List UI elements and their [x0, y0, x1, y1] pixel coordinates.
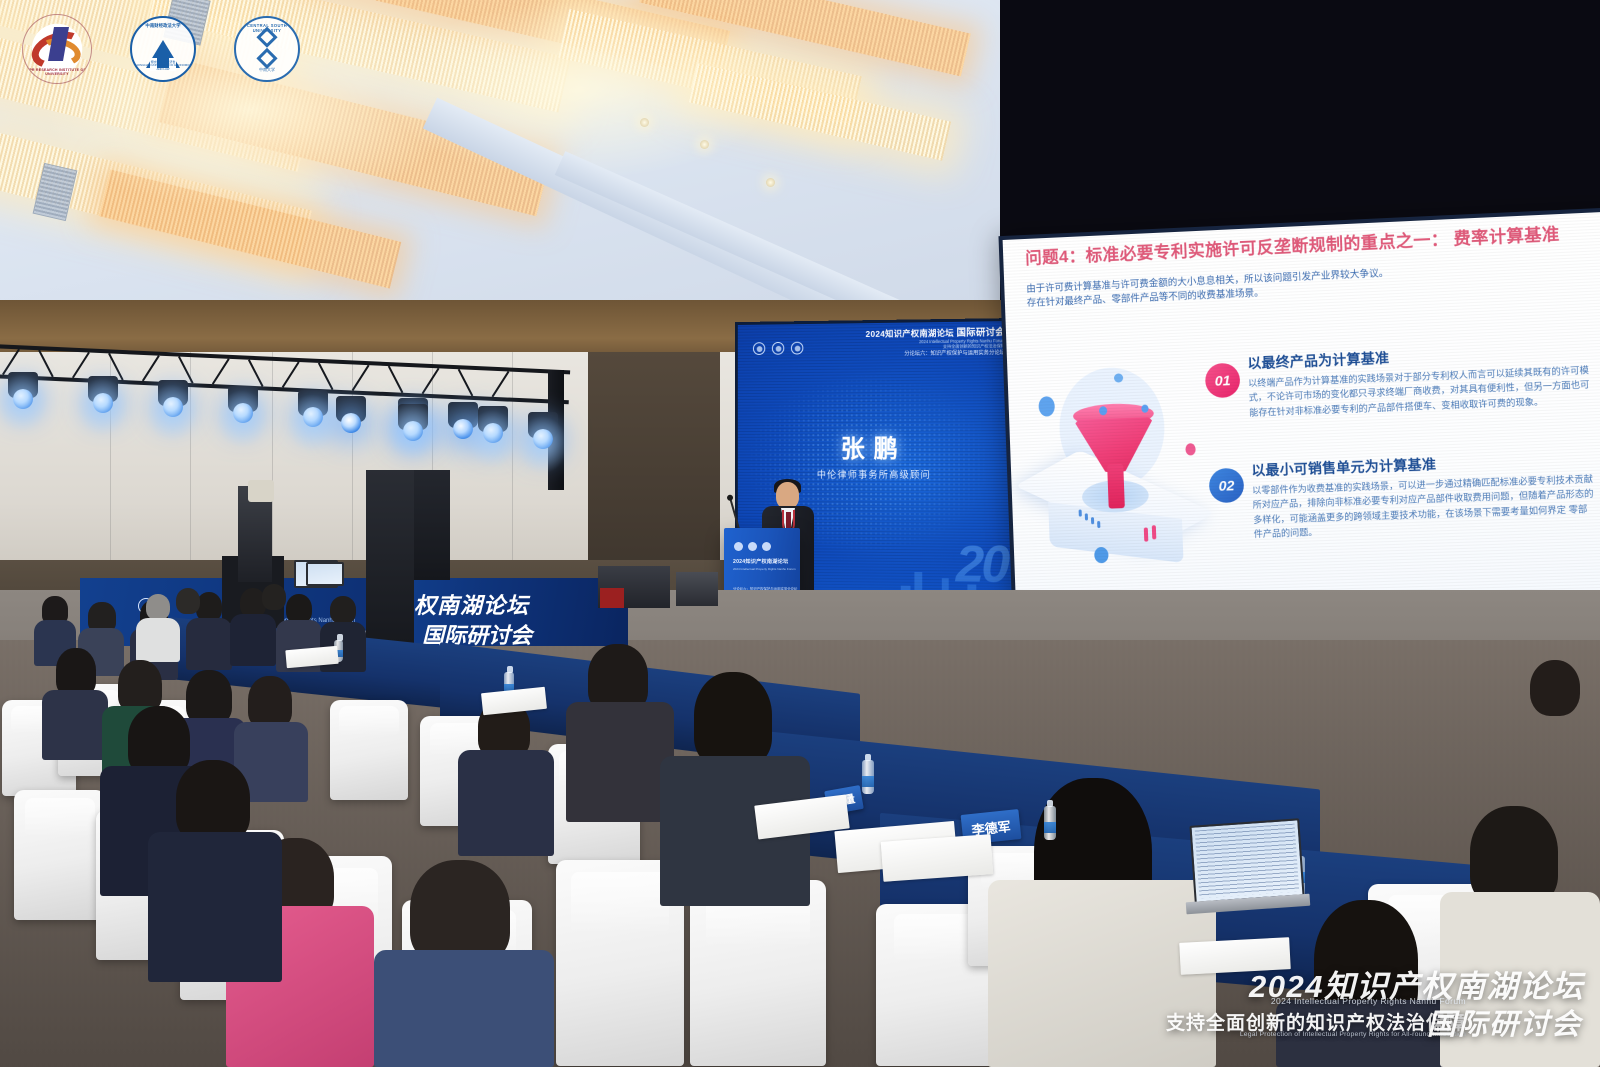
attendee-head	[1470, 806, 1558, 906]
document-papers	[1179, 937, 1291, 975]
stage-spotlight-11	[528, 412, 558, 438]
attendee-body	[230, 614, 276, 666]
attendee-head	[56, 648, 96, 696]
bullet-heading-01: 以最终产品为计算基准	[1247, 346, 1390, 372]
screen-header-title2: 国际研讨会	[957, 327, 1005, 339]
attendee-head	[694, 672, 772, 766]
attendee-head	[330, 596, 356, 624]
speaker-title: 中伦律师事务所高级顾问	[738, 467, 1013, 481]
bullet-number-01: 01	[1205, 363, 1241, 399]
water-bottle	[1044, 806, 1056, 840]
attendee-head	[1530, 660, 1580, 716]
chandelier-7	[99, 169, 402, 288]
zhongnan-logo-en: ZHONGNAN UNIVERSITY OF ECONOMICS AND LAW	[132, 63, 194, 71]
banner-right-title: 权南湖论坛	[414, 588, 529, 620]
podium-logos	[734, 542, 771, 551]
ceiling-downlight-3	[766, 178, 775, 187]
cube-tick-2	[1085, 513, 1088, 520]
screen-header-title: 2024知识产权南湖论坛	[866, 328, 954, 339]
speaker-stack-occluder-2	[366, 470, 414, 652]
bullet-heading-02: 以最小可销售单元为计算基准	[1251, 453, 1437, 480]
camera-light	[248, 480, 274, 502]
document-papers	[881, 834, 994, 882]
bullet-number-02: 02	[1209, 468, 1245, 504]
water-bottle	[862, 760, 874, 794]
cube-tick-4	[1097, 521, 1100, 528]
attendee-body	[42, 690, 108, 760]
presentation-slide-screen: 问题4：标准必要专利实施许可反垄断规制的重点之一： 费率计算基准 由于许可费计算…	[998, 207, 1600, 648]
attendee-body	[1276, 1000, 1466, 1067]
screen-header-subforum: 分论坛六：知识产权保护与运用实务分论坛	[866, 350, 1005, 358]
cube-tick-pink-1	[1144, 527, 1149, 541]
bullet-body-02: 以零部件作为收费基准的实践场景，可以进一步通过精确匹配标准必要专利技术贡献所对应…	[1252, 472, 1597, 542]
deco-dot-3	[1185, 443, 1196, 455]
funnel-illustration	[1021, 364, 1210, 571]
podium-title-cn: 2024知识产权南湖论坛	[733, 558, 788, 565]
attendee-head	[176, 760, 250, 842]
cube-tick-pink-2	[1152, 525, 1157, 539]
attendee-head	[186, 670, 232, 724]
zhongnan-logo-cn: 中南财经政法大学	[132, 23, 194, 29]
stage-spotlight-3	[158, 380, 188, 406]
attendee-body	[566, 702, 674, 822]
ip-institute-logo-text: IPR RESEARCH INSTITUTE OF UNIVERSITY	[23, 68, 91, 76]
central-south-university-logo: CENTRAL SOUTH UNIVERSITY 中南大学	[234, 16, 300, 82]
attendee-body	[1440, 892, 1600, 1067]
attendee-head	[248, 676, 292, 728]
audience-chair	[330, 700, 408, 800]
screen-header: 2024知识产权南湖论坛 国际研讨会 2024 Intellectual Pro…	[738, 321, 1013, 366]
ceiling-downlight-1	[700, 140, 709, 149]
stage-equipment-red	[600, 588, 624, 608]
audience-chair	[14, 790, 106, 920]
stage-spotlight-10	[478, 406, 508, 432]
deco-dot-1	[1038, 396, 1055, 417]
attendee-body	[148, 832, 282, 982]
attendee-body	[374, 950, 554, 1067]
attendee-laptop	[1189, 818, 1304, 903]
zhongnan-university-logo: 中南财经政法大学 博文明理 厚德济世 ZHONGNAN UNIVERSITY O…	[130, 16, 196, 82]
attendee-body	[186, 618, 232, 670]
stage-spotlight-2	[88, 376, 118, 402]
ceiling-downlight-2	[640, 118, 649, 127]
stage-spotlight-1	[8, 372, 38, 398]
stage-spotlight-4	[228, 386, 258, 412]
podium-title-en: 2024 Intellectual Property Rights Nanhu …	[733, 567, 796, 571]
attendee-head	[146, 594, 170, 620]
stage-spotlight-6	[336, 396, 366, 422]
attendee-head	[176, 588, 200, 614]
attendee-laptop	[306, 562, 344, 586]
attendee-head	[410, 860, 510, 964]
stage-spotlight-5	[298, 390, 328, 416]
conference-hall-photo: IPR RESEARCH INSTITUTE OF UNIVERSITY 中南财…	[0, 0, 1600, 1067]
stage-equipment-box	[676, 572, 718, 606]
attendee-body	[136, 618, 180, 662]
speaker-head	[776, 482, 799, 509]
stage-spotlight-8	[448, 402, 478, 428]
deco-dot-4	[1094, 547, 1109, 564]
bullet-body-01: 以终端产品作为计算基准的实践场景对于部分专利权人而言可以延续其既有的许可模式，不…	[1248, 363, 1592, 420]
attendee-head	[118, 660, 162, 712]
csu-logo-cn: 中南大学	[236, 67, 298, 73]
stage-spotlight-9	[398, 404, 428, 430]
banner-right-subtitle: 国际研讨会	[422, 618, 532, 646]
ip-research-institute-logo: IPR RESEARCH INSTITUTE OF UNIVERSITY	[22, 14, 92, 84]
speaker-stack-occluder-3	[414, 470, 450, 580]
audience-chair	[690, 880, 826, 1066]
speaker-name: 张鹏	[738, 429, 1013, 465]
cube-tick-1	[1079, 510, 1082, 517]
attendee-head	[262, 584, 286, 610]
institutional-logos: IPR RESEARCH INSTITUTE OF UNIVERSITY 中南财…	[22, 14, 300, 84]
attendee-body	[458, 750, 554, 856]
cube-tick-3	[1091, 517, 1094, 524]
